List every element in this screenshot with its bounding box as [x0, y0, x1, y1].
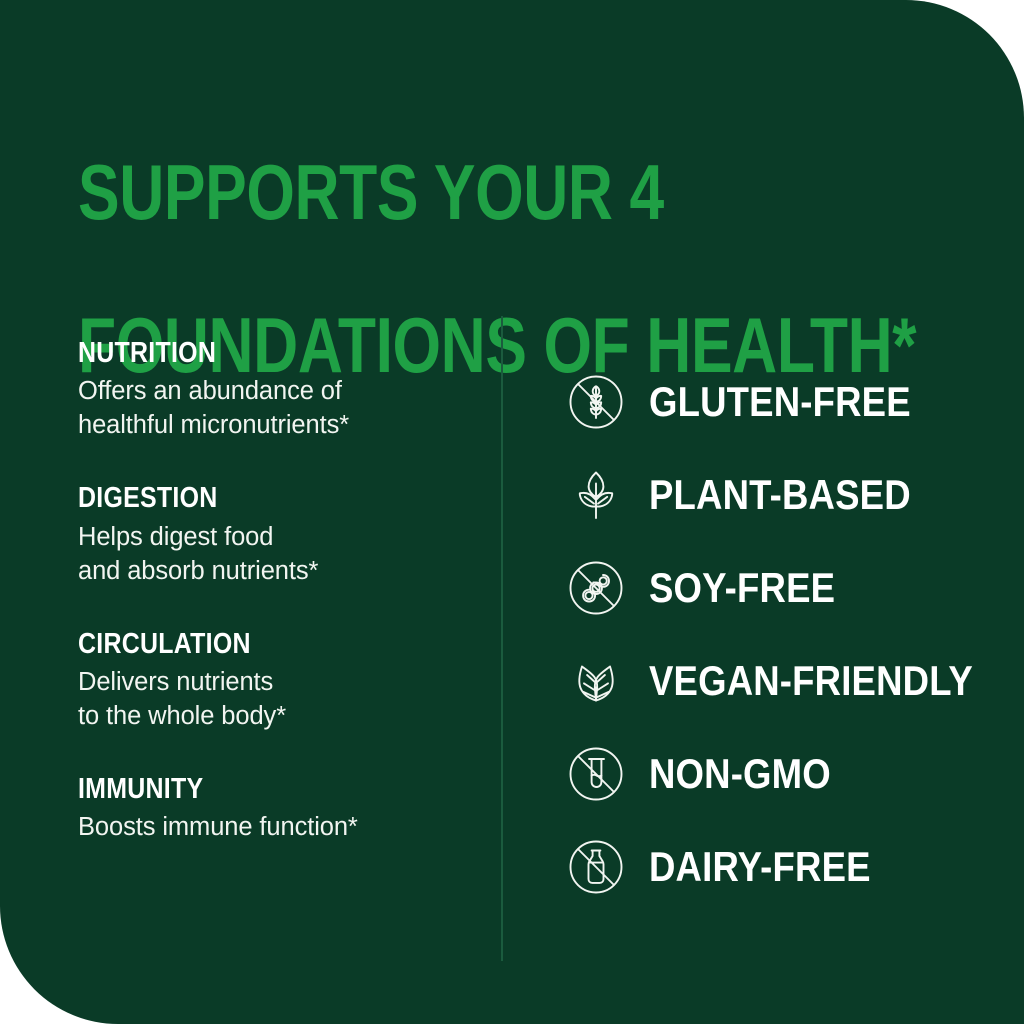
foundation-item-digestion: DIGESTION Helps digest food and absorb n…: [78, 483, 478, 588]
foundation-description: Delivers nutrients to the whole body*: [78, 666, 478, 734]
foundations-of-health-card: SUPPORTS YOUR 4 FOUNDATIONS OF HEALTH* N…: [0, 0, 1024, 1024]
badge-plant-based: PLANT-BASED: [565, 461, 995, 529]
foundations-list: NUTRITION Offers an abundance of healthf…: [78, 338, 478, 845]
foundation-title: NUTRITION: [78, 338, 422, 368]
badge-label: VEGAN-FRIENDLY: [649, 660, 973, 702]
foundation-description: Boosts immune function*: [78, 811, 478, 845]
badge-soy-free: SOY-FREE: [565, 554, 995, 622]
wheat-slashed-icon: [565, 371, 627, 433]
badge-label: SOY-FREE: [649, 567, 835, 609]
badge-dairy-free: DAIRY-FREE: [565, 833, 995, 901]
badge-gluten-free: GLUTEN-FREE: [565, 368, 995, 436]
certification-badge-list: GLUTEN-FREE PLANT-BASED: [565, 368, 995, 901]
foundation-description: Helps digest food and absorb nutrients*: [78, 521, 478, 589]
badge-vegan-friendly: VEGAN-FRIENDLY: [565, 647, 995, 715]
test-tube-slashed-icon: [565, 743, 627, 805]
foundation-item-immunity: IMMUNITY Boosts immune function*: [78, 774, 478, 845]
badge-label: GLUTEN-FREE: [649, 381, 911, 423]
two-leaves-icon: [565, 650, 627, 712]
foundation-description: Offers an abundance of healthful micronu…: [78, 375, 478, 443]
badge-non-gmo: NON-GMO: [565, 740, 995, 808]
soybean-slashed-icon: [565, 557, 627, 619]
foundation-item-circulation: CIRCULATION Delivers nutrients to the wh…: [78, 629, 478, 734]
foundation-item-nutrition: NUTRITION Offers an abundance of healthf…: [78, 338, 478, 443]
milk-bottle-slashed-icon: [565, 836, 627, 898]
plant-leaves-icon: [565, 464, 627, 526]
foundation-title: IMMUNITY: [78, 774, 422, 804]
page-title-line-1: SUPPORTS YOUR 4: [78, 154, 790, 230]
foundation-title: DIGESTION: [78, 483, 422, 513]
badge-label: PLANT-BASED: [649, 474, 911, 516]
badge-label: DAIRY-FREE: [649, 846, 871, 888]
badge-label: NON-GMO: [649, 753, 831, 795]
column-divider: [501, 316, 503, 961]
foundation-title: CIRCULATION: [78, 629, 422, 659]
